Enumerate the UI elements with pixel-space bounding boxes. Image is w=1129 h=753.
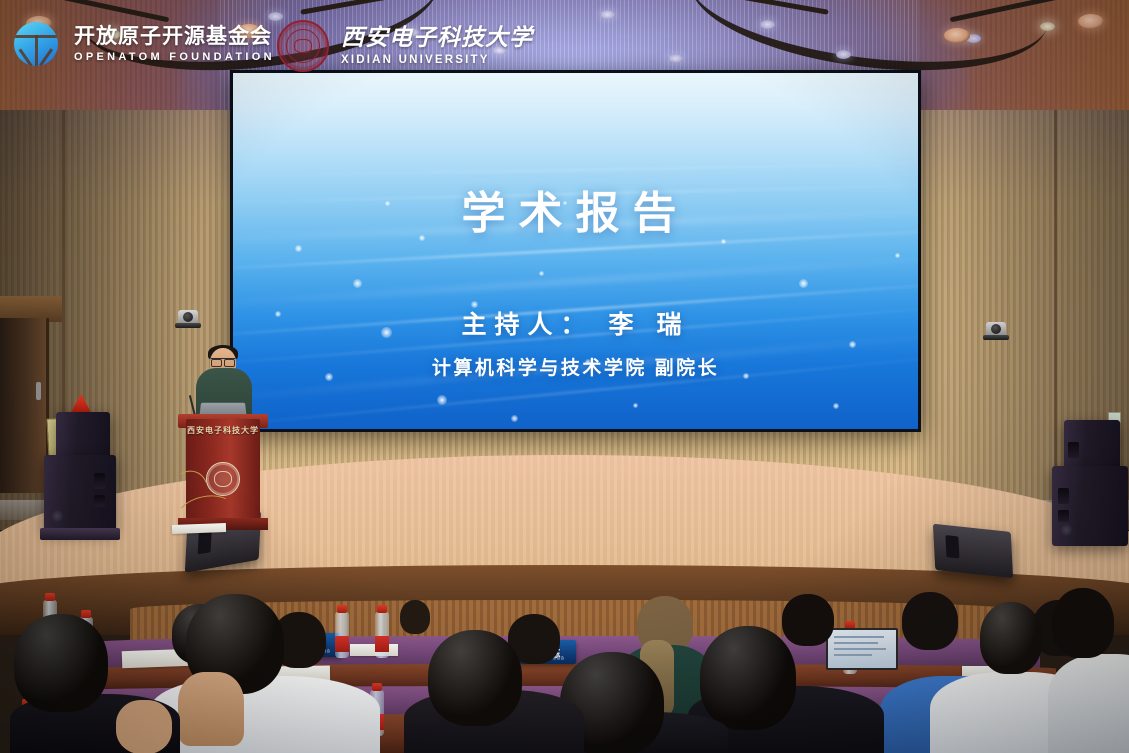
- subwoofer-icon: [44, 455, 116, 531]
- audience-arm: [178, 672, 244, 746]
- water-bottle: [335, 612, 349, 658]
- paper-sheet: [172, 523, 226, 534]
- screen-host-line: 主持人： 李 瑞: [233, 305, 918, 341]
- ptz-camera-icon: [178, 310, 198, 325]
- ceiling-can-light: [1078, 14, 1104, 29]
- university-emblem-icon: [206, 462, 240, 496]
- xidian-name-cn: 西安电子科技大学: [341, 26, 533, 49]
- subwoofer-icon: [1052, 466, 1128, 546]
- ceiling-spotlight: [760, 20, 775, 29]
- ceiling-can-light: [944, 28, 970, 43]
- projection-screen-frame: 学术报告 主持人： 李 瑞 计算机科学与技术学院 副院长: [230, 70, 921, 432]
- door-icon[interactable]: [0, 318, 49, 493]
- ceiling-spotlight: [836, 50, 851, 59]
- screen-title: 学术报告: [233, 177, 918, 241]
- xidian-brand: 西安电子科技大学 XIDIAN UNIVERSITY: [277, 20, 533, 72]
- audience-head: [782, 594, 834, 646]
- paper-sheet: [350, 644, 398, 656]
- ceiling-spotlight: [1040, 22, 1055, 31]
- openatom-logo-icon: [14, 22, 58, 66]
- audience-hand: [116, 700, 172, 753]
- stage-monitor-icon: [933, 524, 1013, 579]
- door-handle[interactable]: [36, 382, 41, 400]
- openatom-name-cn: 开放原子开源基金会: [74, 26, 275, 47]
- screen-affiliation-line: 计算机科学与技术学院 副院长: [233, 353, 918, 380]
- audience-head: [400, 600, 430, 634]
- xidian-name-en: XIDIAN UNIVERSITY: [341, 55, 533, 67]
- ceiling-spotlight: [668, 54, 683, 63]
- presenter-glasses: [211, 358, 235, 365]
- projection-screen: 学术报告 主持人： 李 瑞 计算机科学与技术学院 副院长: [233, 73, 918, 429]
- ceiling-spotlight: [600, 10, 615, 19]
- audience-head: [902, 592, 958, 650]
- ptz-camera-icon: [986, 322, 1006, 337]
- audience-head: [1052, 588, 1114, 658]
- lecture-hall-photo: 学术报告 主持人： 李 瑞 计算机科学与技术学院 副院长 开放原子开源基金会 O…: [0, 0, 1129, 753]
- wall-seam: [1054, 110, 1057, 510]
- water-bottle: [375, 612, 389, 658]
- laptop-icon: [826, 628, 894, 672]
- openatom-brand: 开放原子开源基金会 OPENATOM FOUNDATION: [14, 22, 275, 66]
- openatom-name-en: OPENATOM FOUNDATION: [74, 52, 275, 63]
- podium-label: 西安电子科技大学: [178, 425, 268, 436]
- speaker-riser: [40, 528, 120, 540]
- xidian-seal-icon: [277, 20, 329, 72]
- audience-body: [1048, 654, 1129, 753]
